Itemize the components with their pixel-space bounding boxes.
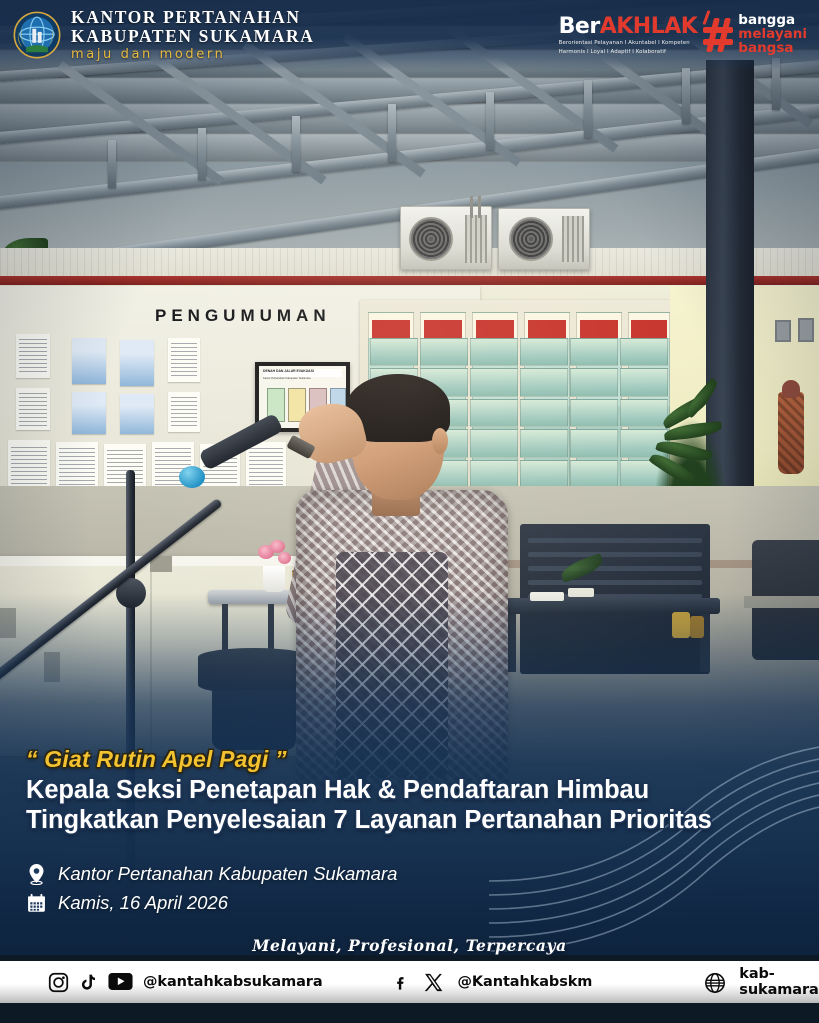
instagram-icon[interactable] xyxy=(48,972,69,993)
berakhlak-subtitle-1: Berorientasi Pelayanan I Akuntabel I Kom… xyxy=(559,40,698,48)
x-twitter-icon[interactable] xyxy=(423,972,444,993)
motto-text: Melayani, Profesional, Terpercaya xyxy=(26,936,793,955)
red-trim-line xyxy=(0,276,819,285)
header-logos: BerAKHLAK Berorientasi Pelayanan I Akunt… xyxy=(559,14,819,57)
berakhlak-logo: BerAKHLAK Berorientasi Pelayanan I Akunt… xyxy=(559,14,698,57)
berakhlak-suffix: AKHLAK xyxy=(600,14,698,39)
poster-canvas: PENGUMUMAN DENAH DAN JALUR EVAKUASI Kant… xyxy=(0,0,819,1023)
org-tagline: maju dan modern xyxy=(71,48,315,61)
organization-name: KANTOR PERTANAHAN KABUPATEN SUKAMARA maj… xyxy=(71,9,315,61)
youtube-icon[interactable] xyxy=(108,972,129,993)
org-line-2: KABUPATEN SUKAMARA xyxy=(71,28,315,46)
hashtag-icon xyxy=(703,18,733,52)
bpn-globe-crest-icon xyxy=(12,10,62,60)
date-text: Kamis, 16 April 2026 xyxy=(58,892,228,914)
berakhlak-subtitle-2: Harmonis I Loyal I Adaptif I Kolaboratif xyxy=(559,49,698,57)
social-handle-2[interactable]: @Kantahkabskm xyxy=(458,974,593,990)
headline-line-2: Tingkatkan Penyelesaian 7 Layanan Pertan… xyxy=(26,805,793,836)
organization-brand: KANTOR PERTANAHAN KABUPATEN SUKAMARA maj… xyxy=(0,9,315,61)
map-pin-icon xyxy=(26,863,46,885)
poster-content: “ Giat Rutin Apel Pagi ” Kepala Seksi Pe… xyxy=(0,746,819,955)
bangga-line-3: bangsa xyxy=(738,42,807,56)
microphone-foam-windscreen xyxy=(179,466,205,488)
tiktok-icon[interactable] xyxy=(78,972,99,993)
footer-white-strip: @kantahkabsukamara @Kantahkabskm xyxy=(0,961,819,1003)
website-url[interactable]: kab-sukamara.atrbpn.go.id xyxy=(739,966,819,998)
date-row: Kamis, 16 April 2026 xyxy=(26,892,793,914)
bangga-wordmark: bangga melayani bangsa xyxy=(738,14,807,55)
air-conditioner-unit-right xyxy=(498,208,590,270)
poster-header: KANTOR PERTANAHAN KABUPATEN SUKAMARA maj… xyxy=(0,0,819,70)
berakhlak-wordmark: BerAKHLAK xyxy=(559,14,698,39)
location-row: Kantor Pertanahan Kabupaten Sukamara xyxy=(26,863,793,885)
berakhlak-prefix: Ber xyxy=(559,14,600,39)
headline-line-1: Kepala Seksi Penetapan Hak & Pendaftaran… xyxy=(26,775,793,806)
footer-social-group-1: @kantahkabsukamara xyxy=(48,972,323,993)
globe-icon[interactable] xyxy=(704,972,725,993)
hanging-cloth xyxy=(778,392,804,474)
pengumuman-sign: PENGUMUMAN xyxy=(155,306,331,326)
flower-vase xyxy=(263,566,285,592)
poster-footer: @kantahkabsukamara @Kantahkabskm xyxy=(0,955,819,1023)
calendar-icon xyxy=(26,892,46,914)
facebook-icon[interactable] xyxy=(393,972,414,993)
bangga-melayani-bangsa-logo: bangga melayani bangsa xyxy=(703,14,807,55)
event-meta: Kantor Pertanahan Kabupaten Sukamara xyxy=(26,863,793,914)
kicker-title: “ Giat Rutin Apel Pagi ” xyxy=(26,746,793,773)
location-text: Kantor Pertanahan Kabupaten Sukamara xyxy=(58,863,397,885)
footer-website-group: kab-sukamara.atrbpn.go.id xyxy=(704,966,819,998)
social-handle-1[interactable]: @kantahkabsukamara xyxy=(143,974,323,990)
footer-social-group-2: @Kantahkabskm xyxy=(393,972,593,993)
org-line-1: KANTOR PERTANAHAN xyxy=(71,9,315,27)
